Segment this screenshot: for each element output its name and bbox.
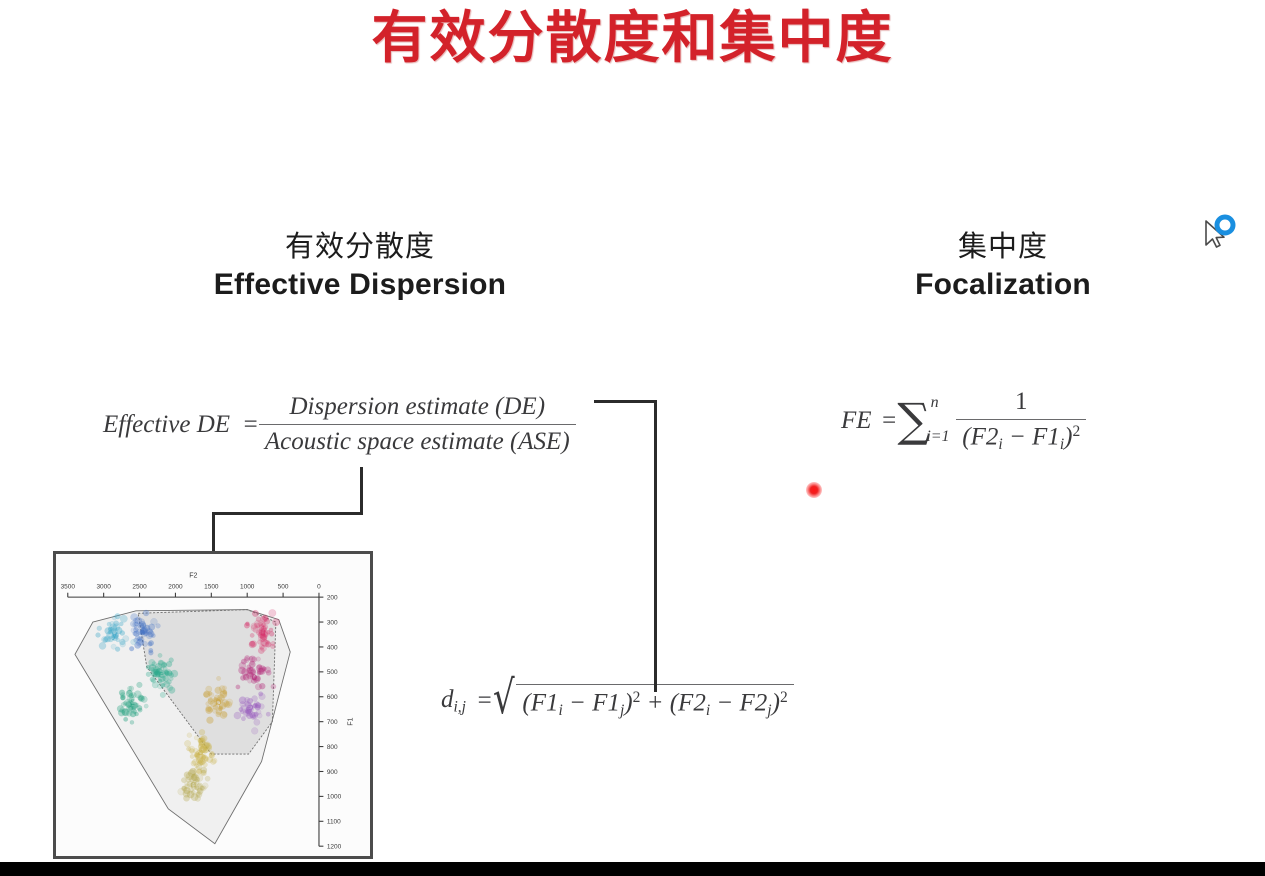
vowel-token-point: [115, 613, 121, 619]
formula-fe-denominator: (F2i − F1i)2: [956, 419, 1086, 454]
y-axis-tick-label: 500: [327, 669, 338, 676]
connector-de-vertical: [654, 400, 657, 692]
dist-subscript: i,j: [454, 698, 467, 715]
vowel-token-point: [256, 657, 260, 661]
vowel-cluster-label-ɛ: ɛ: [130, 697, 135, 708]
vowel-token-point: [220, 711, 227, 718]
vowel-space-plot: 3500300025002000150010005000F22003004005…: [53, 551, 373, 859]
y-axis-label: F1: [347, 717, 354, 725]
vowel-token-point: [253, 626, 260, 633]
vowel-token-point: [250, 633, 254, 637]
busy-ring-hole: [1222, 222, 1228, 228]
vowel-token-point: [199, 729, 205, 735]
formula-de-numerator: Dispersion estimate (DE): [284, 393, 552, 424]
connector-ase-horizontal: [212, 512, 363, 515]
vowel-token-point: [236, 685, 240, 689]
vowel-token-point: [224, 701, 230, 707]
vowel-token-point: [120, 695, 125, 700]
fe-den-minus: − F1: [1003, 423, 1060, 450]
x-axis-tick-label: 2000: [168, 583, 183, 590]
vowel-token-point: [208, 698, 214, 704]
vowel-token-point: [149, 659, 156, 666]
vowel-token-point: [148, 642, 152, 646]
y-axis-tick-label: 200: [327, 594, 338, 601]
vowel-token-point: [191, 761, 196, 766]
vowel-token-point: [120, 615, 127, 622]
vowel-token-point: [223, 690, 227, 694]
vowel-token-point: [151, 634, 155, 638]
formula-fe-numerator: 1: [1009, 388, 1034, 419]
y-axis-tick-label: 1000: [327, 794, 342, 801]
heading-effective-dispersion-cn: 有效分散度: [160, 228, 560, 264]
vowel-token-point: [259, 693, 266, 700]
radical-icon: √: [493, 676, 515, 720]
vowel-cluster-label-i: i: [142, 625, 145, 636]
x-axis-tick-label: 2500: [132, 583, 147, 590]
y-axis-tick-label: 1100: [327, 819, 341, 826]
formula-fe-equals: =: [881, 407, 898, 435]
vowel-token-point: [206, 707, 213, 714]
vowel-token-point: [135, 635, 140, 640]
vowel-token-point: [101, 636, 107, 642]
x-axis-tick-label: 3500: [61, 583, 76, 590]
vowel-token-point: [255, 684, 262, 691]
vowel-token-point: [150, 618, 157, 625]
vowel-token-point: [252, 610, 259, 617]
x-axis-tick-label: 1000: [240, 583, 255, 590]
x-axis-tick-label: 0: [317, 583, 321, 590]
vowel-token-point: [263, 617, 268, 622]
vowel-token-point: [187, 733, 192, 738]
y-axis-tick-label: 900: [327, 769, 338, 776]
vowel-cluster-label-a: a: [198, 747, 204, 758]
vowel-token-point: [208, 691, 212, 695]
vowel-token-point: [169, 658, 174, 663]
vowel-cluster-label-ɔ: ɔ: [248, 702, 253, 713]
fe-den-exponent: 2: [1072, 423, 1080, 440]
summation-lower-limit: i=1: [926, 430, 949, 444]
vowel-token-point: [240, 675, 245, 680]
vowel-token-point: [202, 783, 208, 789]
formula-fe-lhs: FE: [841, 407, 872, 435]
vowel-token-point: [190, 754, 194, 758]
formula-dist-equals: =: [476, 687, 493, 715]
vowel-token-point: [158, 653, 162, 657]
vowel-token-point: [256, 617, 261, 622]
vowel-token-point: [254, 712, 259, 717]
vowel-token-point: [249, 641, 256, 648]
vowel-token-point: [123, 717, 127, 721]
page-title: 有效分散度和集中度: [0, 8, 1265, 70]
y-axis-tick-label: 700: [327, 719, 338, 726]
vowel-token-point: [266, 640, 270, 644]
vowel-cluster-label-ɑ: ɑ: [190, 779, 196, 790]
dist-t2-close: ): [772, 690, 780, 717]
dist-t2-exponent: 2: [780, 689, 788, 706]
fe-den-open: (F2: [962, 423, 998, 450]
y-axis-tick-label: 400: [327, 644, 338, 651]
vowel-token-point: [183, 790, 190, 797]
vowel-token-point: [115, 647, 120, 652]
vowel-token-point: [244, 623, 250, 629]
vowel-token-point: [184, 740, 191, 747]
dist-plus: +: [640, 690, 669, 717]
vowel-token-point: [269, 609, 276, 616]
vowel-token-point: [146, 672, 151, 677]
vowel-token-point: [143, 610, 149, 616]
vowel-token-point: [120, 631, 125, 636]
vowel-token-point: [204, 741, 210, 747]
square-root-group: √ (F1i − F1j)2 + (F2i − F2j)2: [493, 682, 794, 720]
vowel-token-point: [252, 696, 258, 702]
vowel-token-point: [118, 710, 125, 717]
dist-t1-open: (F1: [522, 690, 558, 717]
x-axis-tick-label: 1500: [204, 583, 219, 590]
heading-focalization: 集中度 Focalization: [853, 228, 1153, 304]
formula-effective-dispersion: Effective DE = Dispersion estimate (DE) …: [103, 393, 576, 457]
vowel-token-point: [96, 633, 101, 638]
vowel-token-point: [149, 648, 154, 653]
y-axis-tick-label: 800: [327, 744, 338, 751]
vowel-token-point: [271, 641, 275, 645]
vowel-token-point: [255, 702, 261, 708]
vowel-token-point: [251, 727, 258, 734]
connector-ase-vertical-upper: [360, 467, 363, 515]
heading-effective-dispersion-en: Effective Dispersion: [160, 266, 560, 304]
vowel-token-point: [146, 665, 150, 669]
vowel-space-svg: 3500300025002000150010005000F22003004005…: [56, 554, 370, 856]
mouse-cursor-busy: [1196, 213, 1242, 259]
vowel-token-point: [169, 673, 174, 678]
slide-canvas: 有效分散度和集中度 有效分散度 Effective Dispersion 集中度…: [0, 0, 1265, 876]
formula-de-lhs: Effective DE: [103, 411, 230, 439]
vowel-token-point: [139, 696, 144, 701]
vowel-token-point: [240, 710, 244, 714]
connector-de-horizontal: [594, 400, 657, 403]
vowel-token-point: [234, 712, 241, 719]
vowel-token-point: [110, 621, 115, 626]
y-axis-tick-label: 300: [327, 619, 338, 626]
vowel-token-point: [130, 720, 134, 724]
vowel-token-point: [160, 692, 166, 698]
vowel-token-point: [99, 642, 106, 649]
formula-de-denominator: Acoustic space estimate (ASE): [259, 424, 576, 457]
vowel-cluster-label-y: y: [112, 630, 118, 641]
vowel-token-point: [260, 645, 266, 651]
vowel-token-point: [142, 641, 147, 646]
vowel-cluster-label-e: e: [158, 670, 164, 681]
dist-t1-close: ): [624, 690, 632, 717]
formula-fe-fraction: 1 (F2i − F1i)2: [956, 388, 1086, 453]
vowel-token-point: [239, 697, 246, 704]
heading-focalization-en: Focalization: [853, 266, 1153, 304]
vowel-token-point: [161, 683, 165, 687]
vowel-cluster-label-ɒ: ɒ: [215, 697, 221, 708]
vowel-token-point: [254, 719, 260, 725]
vowel-token-point: [259, 668, 263, 672]
vowel-token-point: [205, 776, 210, 781]
summation-upper-limit: n: [931, 396, 939, 410]
vowel-token-point: [123, 701, 127, 705]
dist-t2-open: (F2: [670, 690, 706, 717]
formula-de-equals: =: [242, 411, 259, 439]
vowel-cluster-label-u: u: [260, 627, 266, 638]
busy-ring-icon: [1217, 217, 1233, 233]
vowel-token-point: [241, 716, 245, 720]
vowel-token-point: [216, 676, 220, 680]
bottom-letterbox-bar: [0, 862, 1265, 876]
vowel-token-point: [97, 626, 102, 631]
vowel-token-point: [130, 711, 136, 717]
cursor-arrow-icon: [1206, 221, 1224, 247]
vowel-token-point: [137, 682, 143, 688]
vowel-token-point: [272, 619, 279, 626]
vowel-token-point: [129, 646, 134, 651]
vowel-token-point: [266, 670, 271, 675]
connector-ase-vertical-lower: [212, 512, 215, 554]
cursor-icon: [1196, 213, 1242, 259]
vowel-token-point: [133, 618, 137, 622]
y-axis-tick-label: 1200: [327, 844, 342, 851]
heading-effective-dispersion: 有效分散度 Effective Dispersion: [160, 228, 560, 304]
vowel-token-point: [207, 756, 213, 762]
vowel-token-point: [120, 641, 126, 647]
vowel-token-point: [184, 772, 191, 779]
vowel-token-point: [266, 630, 270, 634]
vowel-token-point: [196, 792, 200, 796]
vowel-token-point: [222, 686, 227, 691]
vowel-token-point: [164, 670, 169, 675]
vowel-token-point: [206, 717, 213, 724]
vowel-token-point: [185, 781, 190, 786]
y-axis-tick-label: 600: [327, 694, 338, 701]
formula-euclidean-distance: di,j = √ (F1i − F1j)2 + (F2i − F2j)2: [441, 682, 794, 720]
vowel-token-point: [266, 712, 270, 716]
vowel-token-point: [133, 627, 138, 632]
vowel-token-point: [144, 704, 148, 708]
x-axis-label: F2: [189, 573, 197, 580]
summation-symbol: ∑ n i=1: [897, 400, 930, 441]
vowel-token-point: [239, 662, 246, 669]
vowel-token-point: [158, 661, 165, 668]
dist-d: d: [441, 686, 454, 713]
vowel-token-point: [201, 767, 207, 773]
formula-focalization: FE = ∑ n i=1 1 (F2i − F1i)2: [841, 388, 1086, 453]
vowel-token-point: [131, 639, 137, 645]
presenter-laser-dot: [806, 482, 822, 498]
vowel-token-point: [151, 678, 156, 683]
formula-dist-lhs: di,j: [441, 686, 466, 716]
dist-t1-minus: − F1: [563, 690, 620, 717]
vowel-token-point: [201, 735, 207, 741]
formula-de-fraction: Dispersion estimate (DE) Acoustic space …: [259, 393, 576, 457]
heading-focalization-cn: 集中度: [853, 228, 1153, 264]
x-axis-tick-label: 500: [278, 583, 289, 590]
vowel-token-point: [271, 684, 276, 689]
vowel-cluster-label-o: o: [251, 672, 257, 683]
x-axis-tick-label: 3000: [96, 583, 111, 590]
vowel-token-point: [168, 687, 175, 694]
dist-t2-minus: − F2: [710, 690, 767, 717]
